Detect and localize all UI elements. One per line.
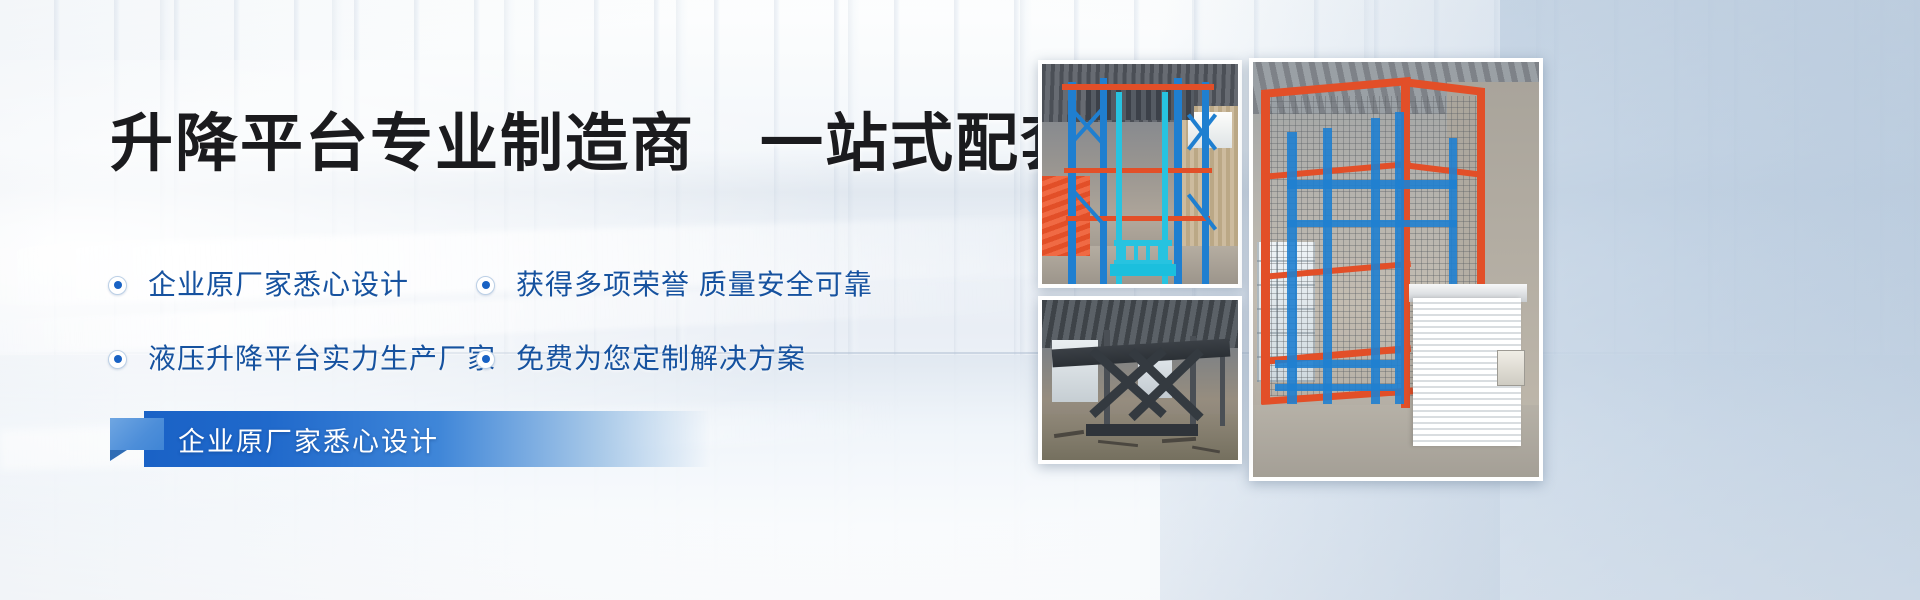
photo-cyan-rail: [1158, 240, 1162, 266]
promo-banner: 升降平台专业制造商 一站式配套服务 企业原厂家悉心设计 获得多项荣誉 质量安全可…: [0, 0, 1920, 600]
feature-label: 液压升降平台实力生产厂家: [148, 344, 496, 374]
bullet-dot-icon: [476, 350, 495, 369]
photo-red-beam: [1062, 84, 1214, 90]
photo-cyan-platform: [1110, 264, 1176, 276]
headline-part-1: 升降平台专业制造商: [110, 109, 695, 179]
photo-lift-base: [1086, 424, 1198, 436]
caged-cargo-lift-photo[interactable]: [1249, 58, 1543, 481]
photo-floor: [1042, 414, 1238, 460]
photo-cyan-rail: [1146, 240, 1150, 266]
highlight-ribbon[interactable]: 企业原厂家悉心设计: [110, 411, 710, 467]
photo-blue-beam: [1287, 220, 1457, 227]
photo-cyan-mast: [1162, 92, 1168, 284]
photo-blue-beam: [1287, 180, 1457, 189]
feature-list: 企业原厂家悉心设计 获得多项荣誉 质量安全可靠 液压升降平台实力生产厂家 免费为…: [108, 248, 948, 396]
photo-cyan-rail: [1134, 240, 1138, 266]
feature-row: 企业原厂家悉心设计 获得多项荣誉 质量安全可靠: [108, 248, 948, 322]
photo-blue-beam: [1275, 384, 1395, 391]
bullet-dot-icon: [108, 350, 127, 369]
bullet-dot-icon: [108, 276, 127, 295]
photo-blue-beam: [1275, 360, 1395, 368]
feature-item: 免费为您定制解决方案: [476, 344, 806, 374]
photo-blue-column: [1202, 82, 1209, 284]
ribbon-label: 企业原厂家悉心设计: [178, 411, 439, 467]
feature-label: 企业原厂家悉心设计: [148, 270, 409, 300]
photo-control-box: [1497, 350, 1525, 386]
feature-row: 液压升降平台实力生产厂家 免费为您定制解决方案: [108, 322, 948, 396]
feature-label: 免费为您定制解决方案: [516, 344, 806, 374]
warehouse-racking-lift-photo[interactable]: [1038, 60, 1242, 288]
photo-red-beam: [1066, 216, 1210, 221]
feature-item: 企业原厂家悉心设计: [108, 270, 476, 300]
photo-blue-column: [1174, 78, 1182, 284]
photo-red-beam: [1064, 168, 1212, 173]
feature-item: 液压升降平台实力生产厂家: [108, 344, 476, 374]
feature-label: 获得多项荣誉 质量安全可靠: [516, 270, 873, 300]
scissor-lift-photo[interactable]: [1038, 296, 1242, 464]
photo-cyan-rail: [1122, 240, 1126, 266]
bullet-dot-icon: [476, 276, 495, 295]
ribbon-tab: [110, 418, 164, 450]
feature-item: 获得多项荣誉 质量安全可靠: [476, 270, 873, 300]
photo-blue-mast: [1395, 112, 1404, 404]
